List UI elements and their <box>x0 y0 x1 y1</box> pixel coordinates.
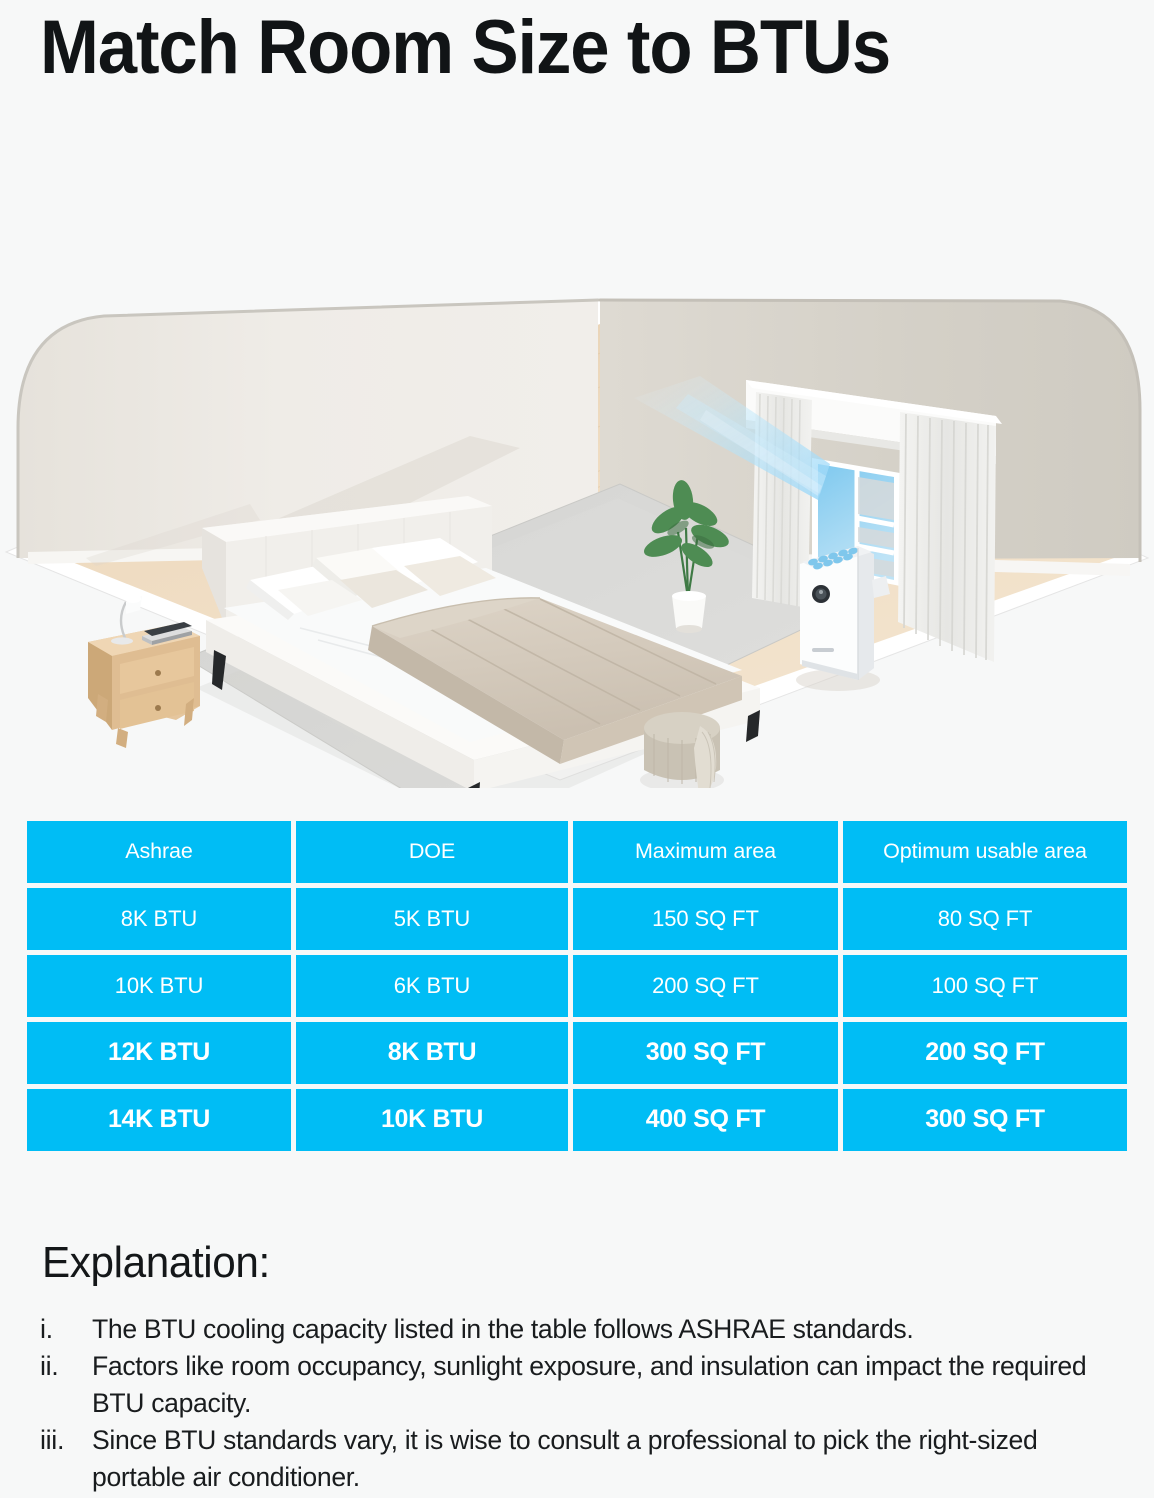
table-cell-ashrae: 8K BTU <box>27 888 291 950</box>
list-item-marker: ii. <box>40 1348 92 1385</box>
table-cell-optimum-usable-area: 300 SQ FT <box>843 1089 1127 1151</box>
table-cell-optimum-usable-area: 100 SQ FT <box>843 955 1127 1017</box>
table-cell-ashrae: 10K BTU <box>27 955 291 1017</box>
list-item-text: The BTU cooling capacity listed in the t… <box>92 1311 1114 1348</box>
table-header-cell-ashrae: Ashrae <box>27 821 291 883</box>
table-cell-doe: 8K BTU <box>296 1022 568 1084</box>
table-cell-maximum-area: 200 SQ FT <box>573 955 838 1017</box>
explanation-heading: Explanation: <box>42 1238 270 1288</box>
table-cell-maximum-area: 300 SQ FT <box>573 1022 838 1084</box>
table-cell-ashrae: 14K BTU <box>27 1089 291 1151</box>
list-item: i. The BTU cooling capacity listed in th… <box>40 1311 1130 1348</box>
table-cell-maximum-area: 400 SQ FT <box>573 1089 838 1151</box>
table-row: 14K BTU 10K BTU 400 SQ FT 300 SQ FT <box>27 1089 1127 1151</box>
table-row: 8K BTU 5K BTU 150 SQ FT 80 SQ FT <box>27 888 1127 950</box>
list-item-marker: i. <box>40 1311 92 1348</box>
list-item-text: Since BTU standards vary, it is wise to … <box>92 1422 1114 1496</box>
table-cell-optimum-usable-area: 80 SQ FT <box>843 888 1127 950</box>
table-cell-maximum-area: 150 SQ FT <box>573 888 838 950</box>
round-pouf-ottoman <box>640 712 724 788</box>
table-row: 10K BTU 6K BTU 200 SQ FT 100 SQ FT <box>27 955 1127 1017</box>
table-header-cell-optimum-usable-area: Optimum usable area <box>843 821 1127 883</box>
list-item: ii. Factors like room occupancy, sunligh… <box>40 1348 1130 1422</box>
table-header-cell-maximum-area: Maximum area <box>573 821 838 883</box>
btu-sizing-table: Ashrae DOE Maximum area Optimum usable a… <box>27 821 1127 1151</box>
list-item-text: Factors like room occupancy, sunlight ex… <box>92 1348 1114 1422</box>
list-item: iii. Since BTU standards vary, it is wis… <box>40 1422 1130 1496</box>
table-cell-doe: 6K BTU <box>296 955 568 1017</box>
list-item-marker: iii. <box>40 1422 92 1459</box>
table-cell-doe: 5K BTU <box>296 888 568 950</box>
table-cell-ashrae: 12K BTU <box>27 1022 291 1084</box>
table-header-row: Ashrae DOE Maximum area Optimum usable a… <box>27 821 1127 883</box>
table-cell-optimum-usable-area: 200 SQ FT <box>843 1022 1127 1084</box>
table-cell-doe: 10K BTU <box>296 1089 568 1151</box>
table-row: 12K BTU 8K BTU 300 SQ FT 200 SQ FT <box>27 1022 1127 1084</box>
infographic-page: Match Room Size to BTUs <box>0 0 1154 1498</box>
explanation-list: i. The BTU cooling capacity listed in th… <box>40 1311 1130 1496</box>
page-title: Match Room Size to BTUs <box>40 6 1063 90</box>
bedroom-illustration <box>0 128 1154 788</box>
table-header-cell-doe: DOE <box>296 821 568 883</box>
